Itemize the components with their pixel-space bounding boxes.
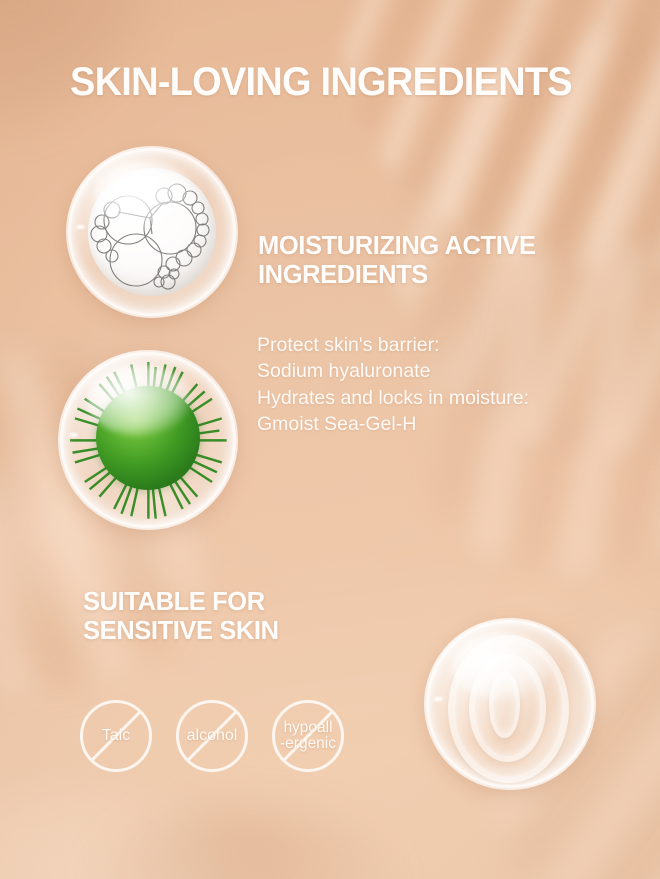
- droplet-glint: [69, 433, 78, 437]
- badge-label: Talc: [102, 728, 130, 744]
- badge-hypoallergenic: hypoall -ergenic: [272, 700, 344, 772]
- gel-droplet-with-bubbles-image: [66, 146, 238, 318]
- clear-gel-blob-image: [424, 618, 596, 790]
- badge-label-line1: hypoall: [283, 719, 332, 736]
- body-line: Sodium hyaluronate: [257, 358, 607, 384]
- body-line: Gmoist Sea-Gel-H: [257, 411, 607, 437]
- badge-label-line2: -ergenic: [280, 735, 336, 752]
- algae-droplet-image: [58, 350, 238, 530]
- section-body-moisturizing: Protect skin's barrier: Sodium hyalurona…: [257, 332, 607, 437]
- badge-label: hypoall -ergenic: [266, 720, 350, 752]
- badge-no-talc: Talc: [80, 700, 152, 772]
- droplet-highlight: [94, 160, 194, 229]
- badge-no-alcohol: alcohol: [176, 700, 248, 772]
- free-from-badge-group: Talc alcohol hypoall -ergenic: [80, 700, 380, 780]
- badge-label: alcohol: [187, 728, 238, 744]
- page-title: SKIN-LOVING INGREDIENTS: [70, 62, 572, 103]
- section-heading-sensitive-skin: SUITABLE FOR SENSITIVE SKIN: [83, 588, 343, 645]
- droplet-highlight: [87, 364, 191, 436]
- section-heading-moisturizing: MOISTURIZING ACTIVE INGREDIENTS: [258, 232, 588, 289]
- droplet-highlight: [452, 632, 552, 701]
- body-line: Hydrates and locks in moisture:: [257, 385, 607, 411]
- poster-canvas: SKIN-LOVING INGREDIENTS: [0, 0, 660, 879]
- body-line: Protect skin's barrier:: [257, 332, 607, 358]
